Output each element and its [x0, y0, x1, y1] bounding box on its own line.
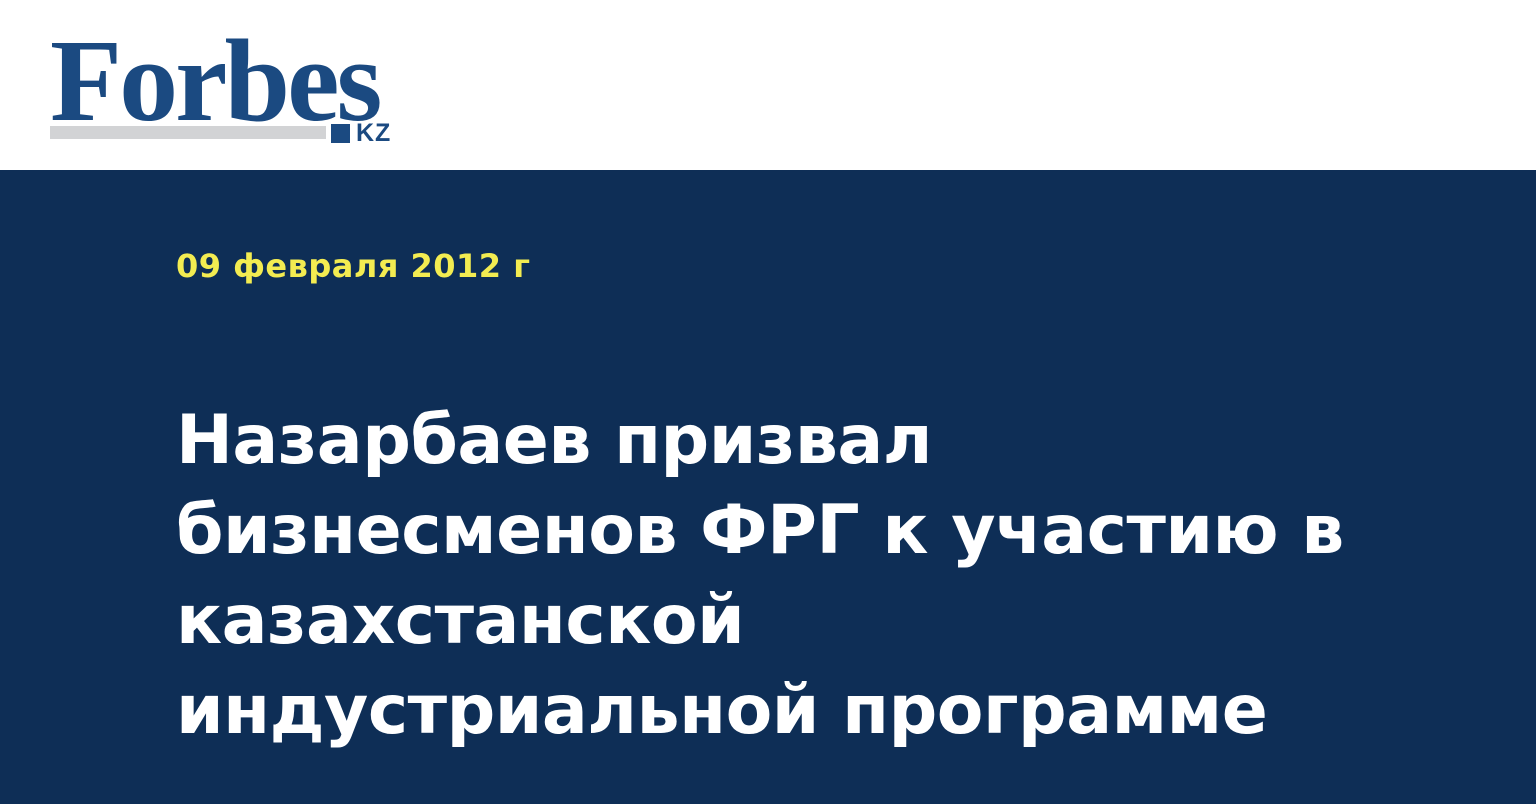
- logo-underline-rule: [50, 126, 326, 139]
- site-header: Forbes KZ: [0, 0, 1536, 170]
- square-icon: [331, 124, 350, 143]
- article-hero-panel: 09 февраля 2012 г Назарбаев призвал бизн…: [0, 170, 1536, 804]
- forbes-wordmark: Forbes: [50, 22, 379, 140]
- article-headline: Назарбаев призвал бизнесменов ФРГ к учас…: [176, 396, 1386, 756]
- logo-kz-suffix: KZ: [356, 121, 391, 146]
- article-page: Forbes KZ 09 февраля 2012 г Назарбаев пр…: [0, 0, 1536, 804]
- article-publish-date: 09 февраля 2012 г: [176, 248, 530, 284]
- forbes-kz-logo[interactable]: Forbes KZ: [50, 22, 420, 147]
